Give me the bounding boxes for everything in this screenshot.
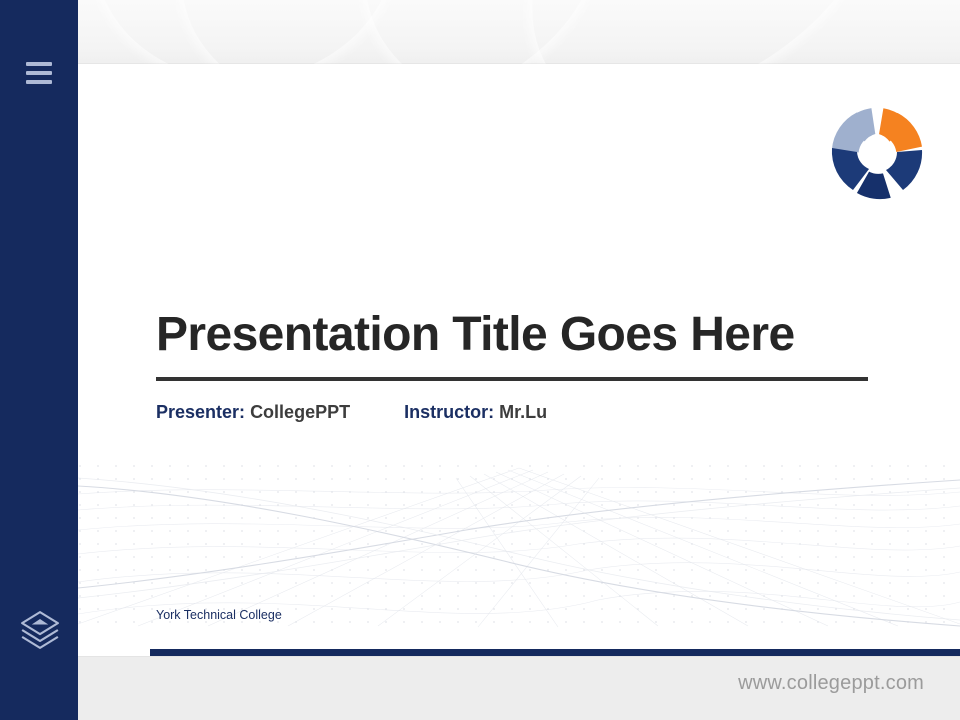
backdrop-header-strip: [0, 0, 960, 68]
site-watermark: www.collegeppt.com: [738, 672, 924, 695]
presenter-label: Presenter:: [156, 402, 245, 422]
hamburger-menu-icon[interactable]: [26, 62, 52, 84]
slide-canvas[interactable]: Presentation Title Goes Here Presenter: …: [78, 64, 960, 656]
menu-bar-3: [26, 80, 52, 84]
left-sidebar-rail: [0, 0, 78, 720]
page-title: Presentation Title Goes Here: [156, 309, 870, 361]
title-divider-rule: [156, 377, 868, 381]
title-block: Presentation Title Goes Here Presenter: …: [156, 309, 870, 423]
wireframe-wave-graphic: [78, 438, 960, 628]
instructor-label: Instructor:: [404, 402, 494, 422]
menu-bar-1: [26, 62, 52, 66]
aperture-ring-logo: [827, 104, 927, 204]
decorative-swoosh-4: [474, 0, 960, 68]
layers-stack-icon[interactable]: [18, 608, 62, 652]
byline-row: Presenter: CollegePPT Instructor: Mr.Lu: [156, 402, 870, 423]
slide-accent-bar: [150, 649, 960, 656]
slide-footer-text: York Technical College: [156, 608, 282, 622]
presenter-value: CollegePPT: [250, 402, 350, 422]
instructor-value: Mr.Lu: [499, 402, 547, 422]
presentation-preview-page: Presentation Title Goes Here Presenter: …: [0, 0, 960, 720]
menu-bar-2: [26, 71, 52, 75]
